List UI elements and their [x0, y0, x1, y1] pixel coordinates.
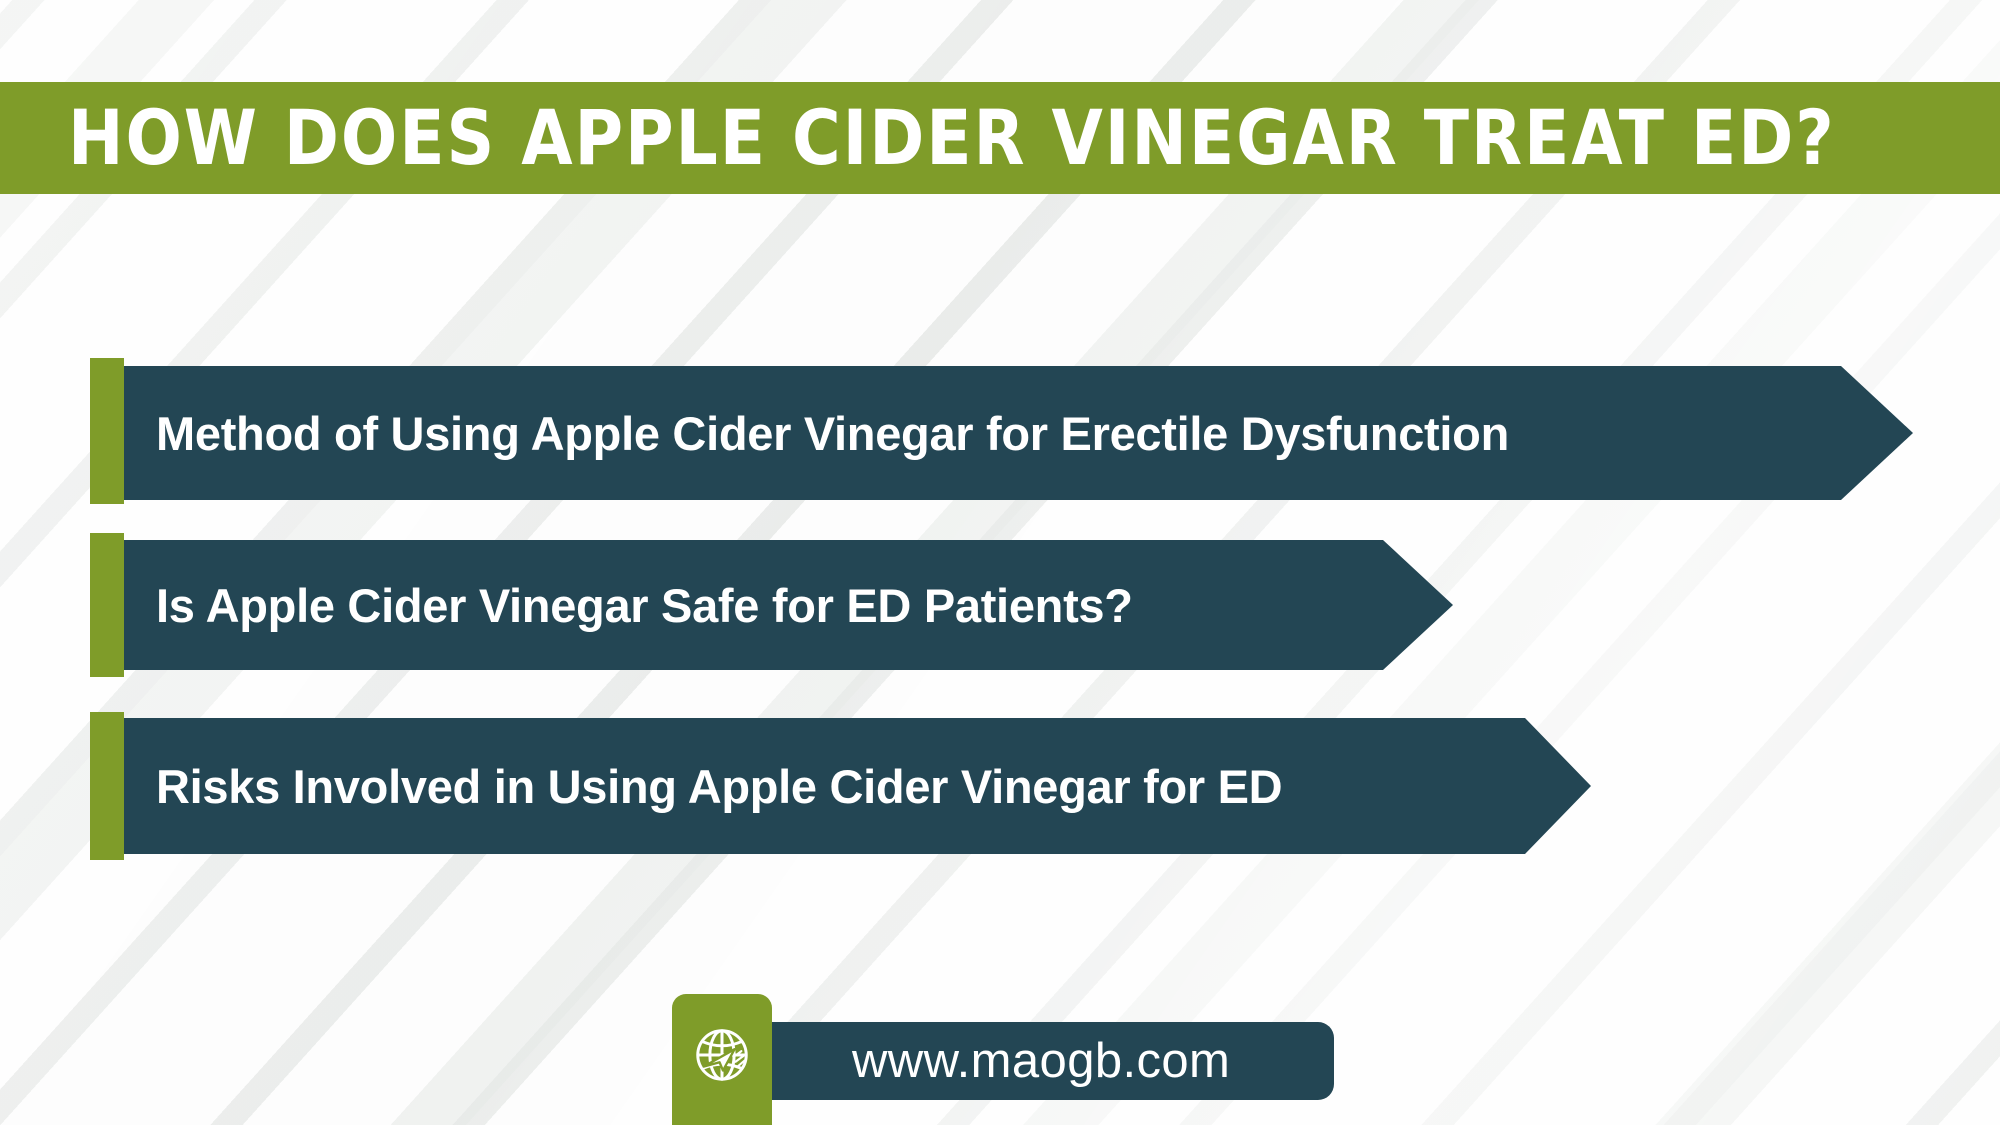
footer-url-bar[interactable]: www.maogb.com	[748, 1022, 1334, 1100]
page-title: HOW DOES APPLE CIDER VINEGAR TREAT ED?	[68, 100, 1836, 176]
banner-arrow-body: Is Apple Cider Vinegar Safe for ED Patie…	[123, 540, 1453, 670]
infographic-page: HOW DOES APPLE CIDER VINEGAR TREAT ED? M…	[0, 0, 2000, 1125]
footer: www.maogb.com	[672, 994, 1334, 1125]
title-band: HOW DOES APPLE CIDER VINEGAR TREAT ED?	[0, 82, 2000, 194]
footer-url-label: www.maogb.com	[852, 1033, 1230, 1089]
banner-item-risks[interactable]: Risks Involved in Using Apple Cider Vine…	[90, 706, 1610, 861]
banner-arrow-body: Method of Using Apple Cider Vinegar for …	[123, 366, 1913, 500]
banner-accent-bar	[90, 358, 124, 504]
banner-arrow-body: Risks Involved in Using Apple Cider Vine…	[123, 718, 1591, 854]
banner-label: Is Apple Cider Vinegar Safe for ED Patie…	[123, 578, 1133, 633]
banner-item-method[interactable]: Method of Using Apple Cider Vinegar for …	[90, 352, 1920, 508]
banner-accent-bar	[90, 533, 124, 677]
banner-item-safety[interactable]: Is Apple Cider Vinegar Safe for ED Patie…	[90, 528, 1470, 680]
banner-label: Risks Involved in Using Apple Cider Vine…	[123, 759, 1282, 814]
banner-accent-bar	[90, 712, 124, 860]
banner-label: Method of Using Apple Cider Vinegar for …	[123, 406, 1509, 461]
footer-logo-tile	[672, 994, 772, 1125]
globe-icon	[691, 1024, 753, 1086]
